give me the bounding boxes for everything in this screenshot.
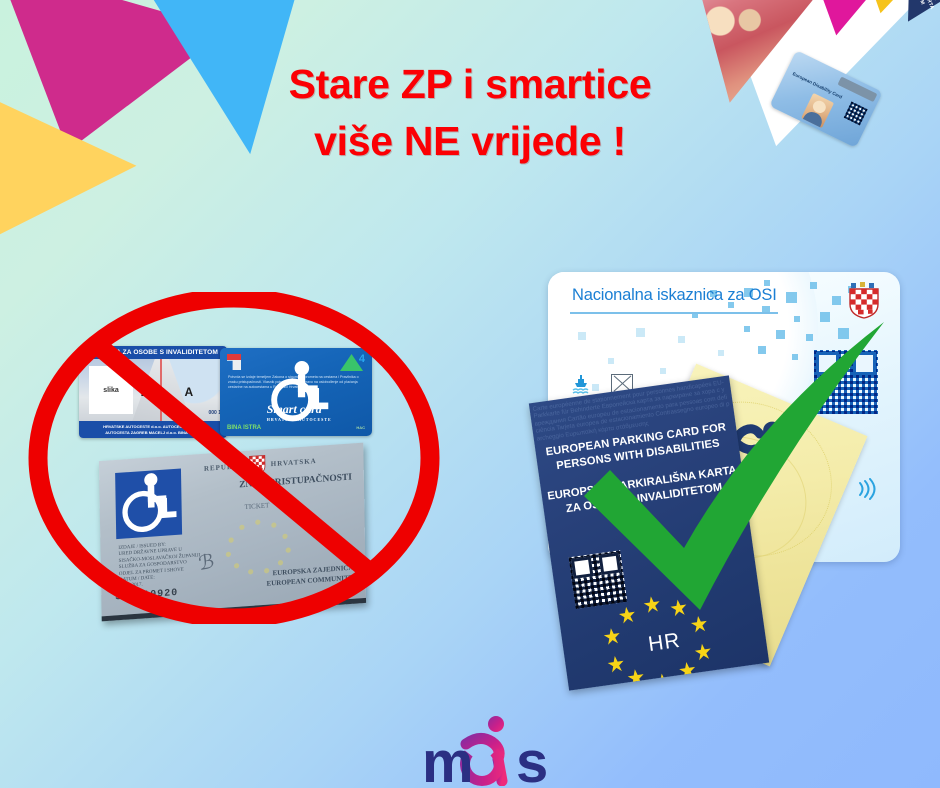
national-card-underline: [570, 312, 778, 314]
smartcard-label: Smart card HRVATSKE AUTOCESTE: [267, 402, 332, 422]
bridge-logo-icon: [340, 354, 364, 371]
national-card-title: Nacionalna iskaznica za OSI: [572, 286, 777, 305]
page-title: Stare ZP i smartice više NE vrijede !: [0, 56, 940, 170]
permit-issued-by: IZDAJE / ISSUED BY: URED DRŽAVNE UPRAVE …: [118, 540, 200, 591]
croatian-coat-of-arms-icon: [249, 455, 266, 476]
new-cards-group: Nacionalna iskaznica za OSI: [548, 272, 908, 682]
smartcard-label-text: Smart card: [267, 402, 322, 416]
mosi-logo: m si: [420, 714, 550, 786]
old-parking-permit: REPUBLIKA HRVATSKA ZNAK PRISTUPAČNOSTI T…: [99, 443, 366, 622]
permit-country-right: HRVATSKA: [271, 457, 317, 468]
permit-signature: ℬ: [197, 549, 216, 576]
potvrda-footer-line-2: AUTOCESTA ZAGREB MACELJ d.o.o. BINA ISTR…: [105, 430, 201, 436]
croatian-coat-of-arms-icon: [848, 282, 880, 320]
potvrda-body: slika ZG A 000 1: [79, 359, 227, 421]
potvrda-header: POTVRDA ZA OSOBE S INVALIDITETOM: [79, 346, 227, 359]
wheelchair-icon: [115, 468, 182, 539]
potvrda-footer: HRVATSKE AUTOCESTE d.o.o. AUTOCESTA RIJE…: [79, 421, 227, 438]
smartcard-brand-left: BINA ISTRA: [227, 425, 261, 431]
ship-icon: [570, 374, 592, 396]
nfc-icon: [854, 478, 876, 500]
qr-code-icon: [814, 350, 878, 414]
potvrda-photo-placeholder: slika: [89, 366, 133, 414]
old-smart-card: Potvrda se izdaje temeljem Zakona o sigu…: [220, 348, 372, 436]
svg-text:si: si: [516, 730, 550, 786]
headline-line-1: Stare ZP i smartice: [0, 56, 940, 113]
smartcard-brand-right: HAC: [356, 425, 365, 430]
hac-logo-icon: [227, 354, 241, 370]
old-cards-group: POTVRDA ZA OSOBE S INVALIDITETOM slika Z…: [24, 292, 444, 628]
headline-line-2: više NE vrijede !: [0, 113, 940, 170]
european-parking-card: Carte européenne de stationnement pour p…: [529, 375, 769, 690]
old-potvrda-card: POTVRDA ZA OSOBE S INVALIDITETOM slika Z…: [79, 346, 227, 438]
smartcard-sublabel: HRVATSKE AUTOCESTE: [267, 417, 332, 422]
permit-country-left: REPUBLIKA: [204, 461, 255, 473]
poster-canvas: EUROPEAN PARKING CARD FOR PERSONS WITH D…: [0, 0, 940, 788]
permit-ticket-label: TICKET: [244, 501, 269, 511]
potvrda-plate: ZG A: [141, 385, 201, 399]
svg-text:m: m: [422, 730, 474, 786]
